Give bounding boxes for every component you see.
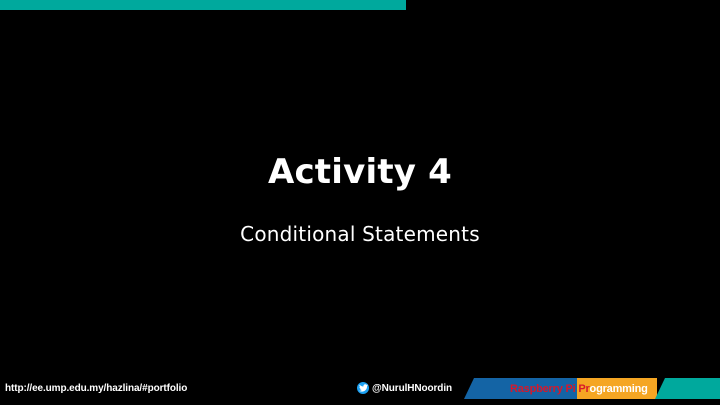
presentation-slide: Activity 4 Conditional Statements http:/… [0,0,720,405]
top-accent-bar [0,0,406,10]
page-subtitle: Conditional Statements [0,220,720,248]
banner-label-part-white: ogramming [590,383,648,395]
twitter-handle-group[interactable]: @NurulHNoordin [357,382,452,394]
slide-footer: http://ee.ump.edu.my/hazlina/#portfolio … [0,375,720,405]
twitter-bird-icon [357,382,369,394]
page-title: Activity 4 [0,150,720,194]
portfolio-url-link[interactable]: http://ee.ump.edu.my/hazlina/#portfolio [5,383,187,394]
banner-label: Raspberry Pi Programming [464,378,720,399]
banner-label-part-red: Raspberry Pi Pr [510,383,590,395]
raspberry-pi-programming-banner: Raspberry Pi Programming [464,378,720,399]
title-block: Activity 4 Conditional Statements [0,150,720,248]
twitter-handle-label: @NurulHNoordin [372,383,452,394]
